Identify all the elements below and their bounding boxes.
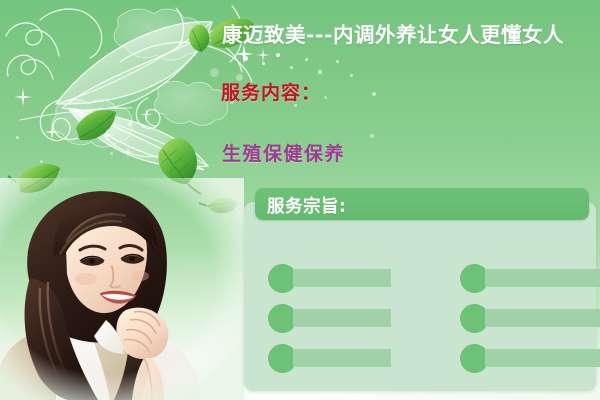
panel-body <box>244 202 596 391</box>
placeholder-bar <box>293 269 391 287</box>
sparkle-star-icon <box>256 48 270 62</box>
placeholder-bar <box>293 349 391 367</box>
placeholder-bar <box>293 309 391 327</box>
sparkle-dot <box>128 122 132 126</box>
sparkle-dot <box>305 58 308 61</box>
sparkle-star-icon <box>44 124 60 140</box>
sparkle-dot <box>40 160 43 163</box>
sparkle-dot <box>324 96 327 99</box>
sparkle-dot <box>290 66 293 69</box>
sparkle-dot <box>372 92 376 96</box>
sparkle-dot <box>110 152 113 155</box>
leaf-icon <box>185 23 215 55</box>
sparkle-star-icon <box>140 108 153 121</box>
leaf-icon <box>151 134 209 196</box>
sparkle-dot <box>318 70 322 74</box>
page-title: 康迈致美---内调外养让女人更懂女人 <box>222 18 564 48</box>
sparkle-dot <box>276 53 280 57</box>
service-content-label: 服务内容： <box>221 78 321 105</box>
list-item[interactable] <box>268 263 391 293</box>
sparkle-star-icon <box>14 88 32 106</box>
sparkle-dot <box>16 136 19 139</box>
placeholder-bar <box>485 269 600 287</box>
panel-placeholder-rows <box>244 216 596 400</box>
panel-header: 服务宗旨: <box>255 188 589 220</box>
leaf-shape <box>76 110 116 140</box>
list-item[interactable] <box>268 343 391 373</box>
sparkle-dot <box>370 134 374 138</box>
sparkle-dot <box>262 62 265 65</box>
placeholder-bar <box>485 349 600 367</box>
list-item[interactable] <box>460 303 600 333</box>
leaf-icon <box>66 204 100 240</box>
service-item-text: 生殖保健保养 <box>222 139 345 166</box>
sparkle-dot <box>243 56 248 61</box>
sparkle-dot <box>336 60 339 63</box>
poster-canvas: 康迈致美---内调外养让女人更懂女人 服务内容： 生殖保健保养 <box>0 0 600 400</box>
list-item[interactable] <box>460 343 600 373</box>
sparkle-dot <box>210 68 219 77</box>
leaf-icon <box>199 193 241 219</box>
list-item[interactable] <box>460 263 600 293</box>
list-item[interactable] <box>268 303 391 333</box>
sparkle-star-icon <box>100 128 114 142</box>
service-purpose-panel: 服务宗旨: <box>244 188 600 391</box>
sparkle-star-icon <box>122 146 134 158</box>
placeholder-bar <box>485 309 600 327</box>
sparkle-dot <box>350 74 353 77</box>
panel-header-title: 服务宗旨: <box>267 193 347 218</box>
